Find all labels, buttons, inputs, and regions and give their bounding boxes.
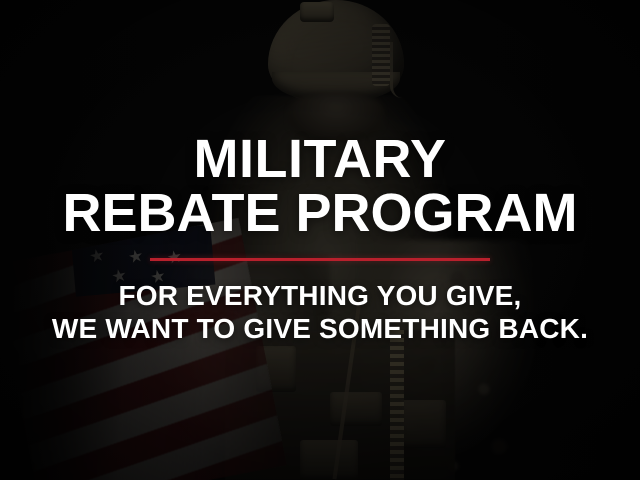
red-divider bbox=[150, 258, 490, 261]
headline: MILITARY REBATE PROGRAM bbox=[62, 132, 577, 240]
headline-line-1: MILITARY bbox=[62, 132, 577, 186]
text-overlay: MILITARY REBATE PROGRAM FOR EVERYTHING Y… bbox=[0, 0, 640, 480]
headline-line-2: REBATE PROGRAM bbox=[62, 186, 577, 240]
subheadline: FOR EVERYTHING YOU GIVE, WE WANT TO GIVE… bbox=[52, 279, 588, 345]
military-rebate-banner: ★ ★ ★ ★ ★ MILITARY REBATE PROGRAM FOR EV… bbox=[0, 0, 640, 480]
subheadline-line-2: WE WANT TO GIVE SOMETHING BACK. bbox=[52, 312, 588, 345]
subheadline-line-1: FOR EVERYTHING YOU GIVE, bbox=[52, 279, 588, 312]
